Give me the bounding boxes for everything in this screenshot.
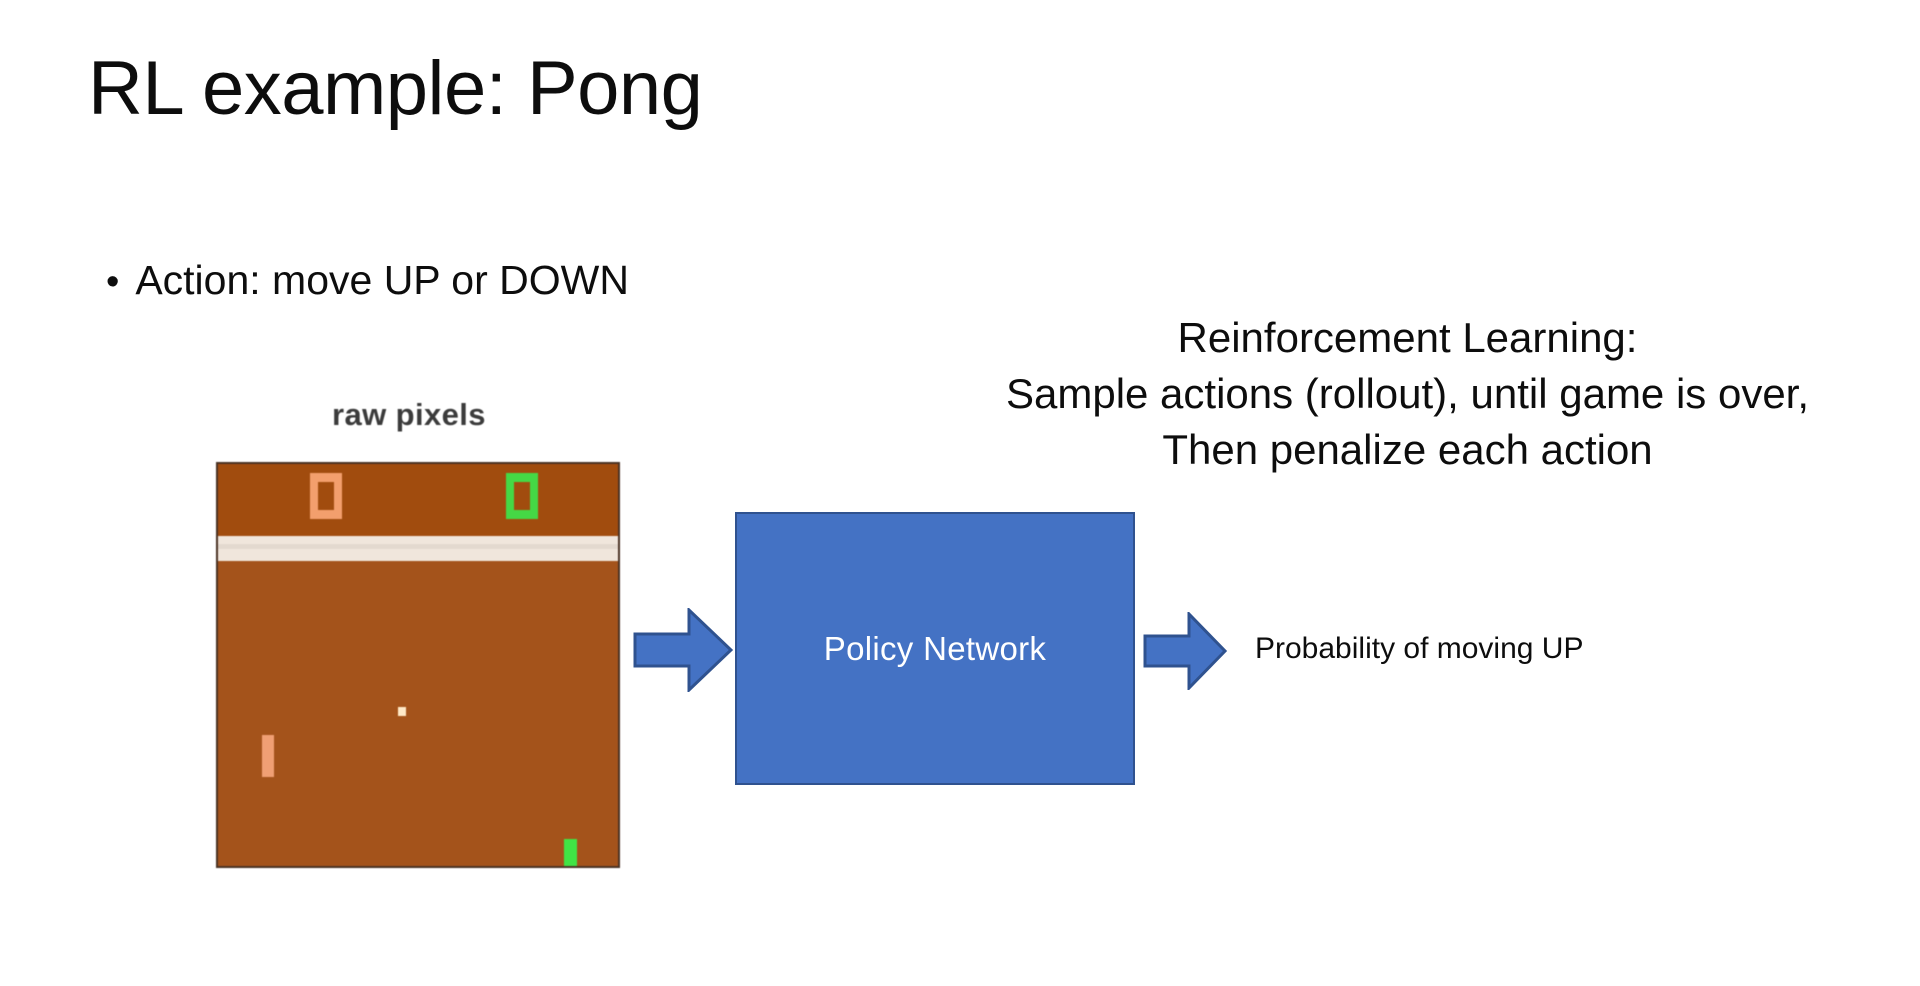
rl-description-block: Reinforcement Learning: Sample actions (… bbox=[880, 310, 1920, 478]
pong-play-field bbox=[218, 561, 618, 868]
pong-left-score-digit bbox=[310, 473, 342, 519]
policy-network-box: Policy Network bbox=[735, 512, 1135, 785]
rl-description-line-1: Reinforcement Learning: bbox=[880, 310, 1920, 366]
bullet-item-label: Action: move UP or DOWN bbox=[135, 258, 629, 303]
pong-divider-stripe bbox=[218, 544, 618, 549]
pong-left-score bbox=[310, 473, 342, 519]
pong-right-paddle bbox=[564, 839, 577, 868]
bullet-list-item: • Action: move UP or DOWN bbox=[106, 258, 629, 303]
pong-score-band bbox=[218, 464, 618, 536]
slide-canvas: RL example: Pong • Action: move UP or DO… bbox=[0, 0, 1920, 986]
input-right-arrow-icon bbox=[633, 608, 733, 692]
pong-divider-bar bbox=[218, 536, 618, 561]
policy-network-label: Policy Network bbox=[824, 630, 1046, 668]
pong-right-score-digit bbox=[506, 473, 538, 519]
pong-left-paddle bbox=[262, 735, 274, 777]
pong-right-score bbox=[506, 473, 538, 519]
pong-ball bbox=[398, 707, 406, 716]
output-probability-label: Probability of moving UP bbox=[1255, 632, 1583, 666]
output-right-arrow-icon bbox=[1143, 612, 1227, 690]
rl-description-line-2: Sample actions (rollout), until game is … bbox=[880, 366, 1920, 422]
rl-description-line-3: Then penalize each action bbox=[880, 422, 1920, 478]
page-title: RL example: Pong bbox=[88, 45, 702, 132]
raw-pixels-caption: raw pixels bbox=[332, 397, 486, 433]
bullet-marker-icon: • bbox=[106, 263, 119, 301]
pong-game-screenshot bbox=[216, 462, 620, 868]
